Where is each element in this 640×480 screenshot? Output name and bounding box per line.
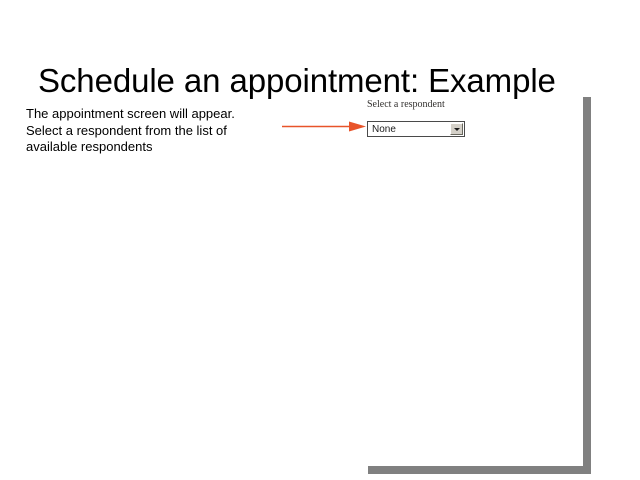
respondent-dropdown-value: None — [372, 123, 396, 136]
pointer-arrow-head — [349, 122, 366, 132]
slide-body-text: The appointment screen will appear. Sele… — [26, 106, 256, 156]
slide-canvas: Schedule an appointment: Example The app… — [0, 0, 640, 480]
select-respondent-label: Select a respondent — [367, 99, 445, 111]
screenshot-shadow-bottom — [368, 466, 591, 474]
respondent-dropdown[interactable]: None — [367, 121, 465, 137]
screenshot-shadow-right — [583, 97, 591, 474]
pointer-arrow-icon — [281, 119, 371, 135]
chevron-down-icon[interactable] — [450, 123, 463, 135]
page-title: Schedule an appointment: Example — [38, 62, 608, 100]
